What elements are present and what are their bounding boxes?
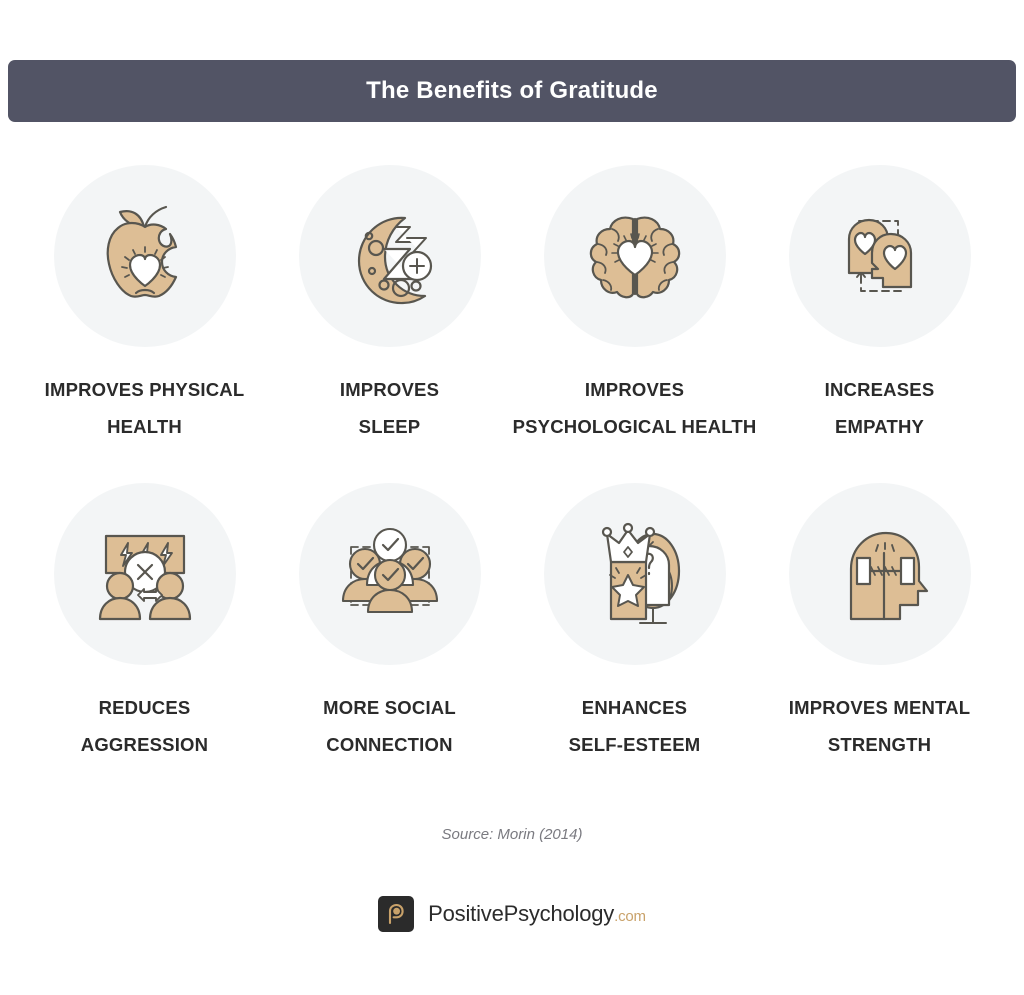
benefit-label-line1: MORE SOCIAL <box>323 697 456 718</box>
benefit-label: INCREASES EMPATHY <box>825 371 935 445</box>
positivepsychology-logo-icon <box>378 896 414 932</box>
source-note: Source: Morin (2014) <box>0 826 1024 843</box>
brand-name-main: PositivePsychology <box>428 901 614 926</box>
conflict-people-icon <box>80 509 210 639</box>
benefit-label-line1: IMPROVES MENTAL <box>789 697 971 718</box>
benefits-grid: IMPROVES PHYSICAL HEALTH <box>22 165 1002 763</box>
benefit-label: IMPROVES SLEEP <box>340 371 439 445</box>
group-checkmarks-icon <box>325 509 455 639</box>
brand-name: PositivePsychology.com <box>428 901 646 927</box>
row-spacer <box>22 445 1002 483</box>
benefit-label: IMPROVES PSYCHOLOGICAL HEALTH <box>513 371 757 445</box>
icon-circle <box>299 483 481 665</box>
benefit-label-line2: SELF-ESTEEM <box>569 726 701 763</box>
benefit-item-physical-health: IMPROVES PHYSICAL HEALTH <box>22 165 267 445</box>
icon-circle <box>54 165 236 347</box>
benefit-item-mental-strength: IMPROVES MENTAL STRENGTH <box>757 483 1002 763</box>
icon-circle <box>789 483 971 665</box>
benefit-label: IMPROVES MENTAL STRENGTH <box>789 689 971 763</box>
benefit-label: MORE SOCIAL CONNECTION <box>323 689 456 763</box>
benefit-label-line1: IMPROVES <box>340 379 439 400</box>
benefit-label-line1: ENHANCES <box>582 697 687 718</box>
benefit-label-line1: REDUCES <box>99 697 191 718</box>
header-bar: The Benefits of Gratitude <box>8 60 1016 122</box>
crown-mirror-icon <box>570 509 700 639</box>
icon-circle <box>299 165 481 347</box>
benefit-label-line2: SLEEP <box>340 408 439 445</box>
benefit-label: ENHANCES SELF-ESTEEM <box>569 689 701 763</box>
brain-heart-icon <box>570 191 700 321</box>
benefit-label-line2: HEALTH <box>45 408 245 445</box>
benefit-label-line1: INCREASES <box>825 379 935 400</box>
icon-circle <box>789 165 971 347</box>
icon-circle <box>544 165 726 347</box>
brand-name-tld: .com <box>614 908 646 925</box>
infographic-page: The Benefits of Gratitude <box>0 0 1024 995</box>
benefit-item-self-esteem: ENHANCES SELF-ESTEEM <box>512 483 757 763</box>
benefit-label-line2: EMPATHY <box>825 408 935 445</box>
two-heads-hearts-icon <box>815 191 945 321</box>
benefit-label: IMPROVES PHYSICAL HEALTH <box>45 371 245 445</box>
benefit-item-sleep: IMPROVES SLEEP <box>267 165 512 445</box>
icon-circle <box>54 483 236 665</box>
benefit-label-line2: PSYCHOLOGICAL HEALTH <box>513 408 757 445</box>
icon-circle <box>544 483 726 665</box>
head-dumbbell-icon <box>815 509 945 639</box>
benefit-item-psychological-health: IMPROVES PSYCHOLOGICAL HEALTH <box>512 165 757 445</box>
moon-zzz-icon <box>325 191 455 321</box>
footer-logo[interactable]: PositivePsychology.com <box>0 896 1024 932</box>
benefit-label-line1: IMPROVES PHYSICAL <box>45 379 245 400</box>
benefit-label-line2: CONNECTION <box>323 726 456 763</box>
benefit-label-line2: AGGRESSION <box>81 726 208 763</box>
benefit-label-line2: STRENGTH <box>789 726 971 763</box>
apple-heart-icon <box>80 191 210 321</box>
page-title: The Benefits of Gratitude <box>366 77 658 105</box>
benefit-item-aggression: REDUCES AGGRESSION <box>22 483 267 763</box>
benefit-label: REDUCES AGGRESSION <box>81 689 208 763</box>
benefit-label-line1: IMPROVES <box>585 379 684 400</box>
benefit-item-empathy: INCREASES EMPATHY <box>757 165 1002 445</box>
benefit-item-social-connection: MORE SOCIAL CONNECTION <box>267 483 512 763</box>
